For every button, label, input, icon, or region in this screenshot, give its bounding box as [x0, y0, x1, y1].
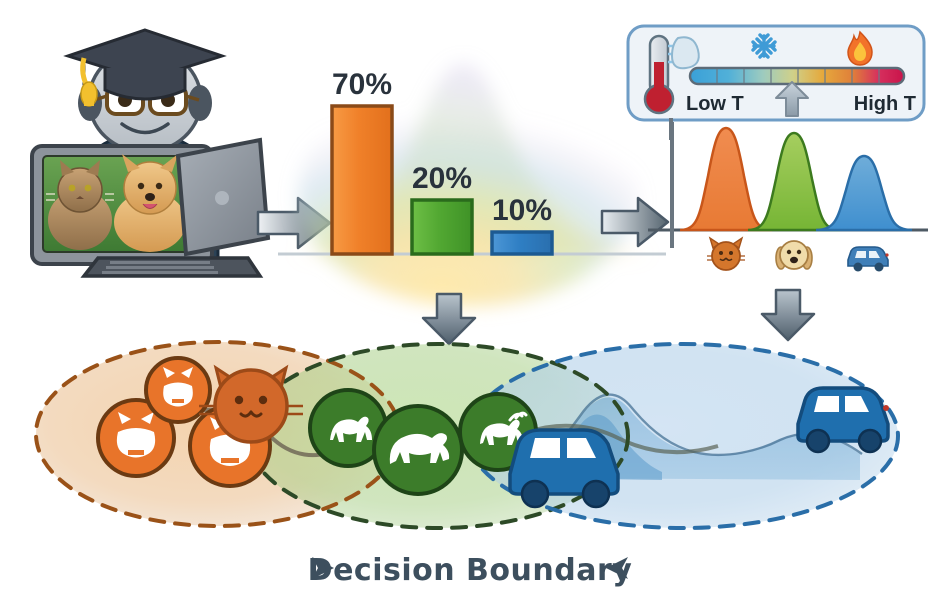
bar-label-car: 10% [492, 194, 552, 227]
high-temperature-label: High T [854, 93, 916, 115]
cluster-point-car[interactable] [510, 430, 618, 507]
bar-label-dog: 20% [412, 162, 472, 195]
dist-curve-dog [748, 133, 840, 230]
cluster-point-boar[interactable] [374, 406, 462, 494]
low-temperature-label: Low T [686, 93, 744, 115]
decision-boundary-text: Decision Boundary [308, 553, 633, 588]
bar-cat [332, 106, 392, 254]
cluster-point-car[interactable] [798, 388, 889, 452]
panel-connector-line [668, 118, 674, 140]
bar-car [492, 232, 552, 254]
temperature-slider-track[interactable] [690, 68, 904, 84]
infographic-canvas: 70% 20% 10% [0, 0, 935, 606]
cluster-point-cat[interactable] [146, 358, 210, 422]
class-conditional-distributions [640, 118, 935, 286]
car-icon [848, 247, 889, 272]
cat-face-icon [707, 238, 745, 270]
snowflake-icon [753, 35, 775, 57]
decision-boundary-scatter [18, 328, 918, 548]
bar-label-cat: 70% [332, 68, 392, 101]
student-robot-with-laptop [10, 8, 280, 288]
dist-curve-car [816, 156, 912, 230]
temperature-slider-panel[interactable]: Low T High T [626, 24, 926, 124]
dog-face-icon [776, 241, 812, 269]
decision-boundary-caption: Decision Boundary [250, 544, 690, 594]
dist-curve-cat [680, 128, 772, 230]
bar-dog [412, 200, 472, 254]
